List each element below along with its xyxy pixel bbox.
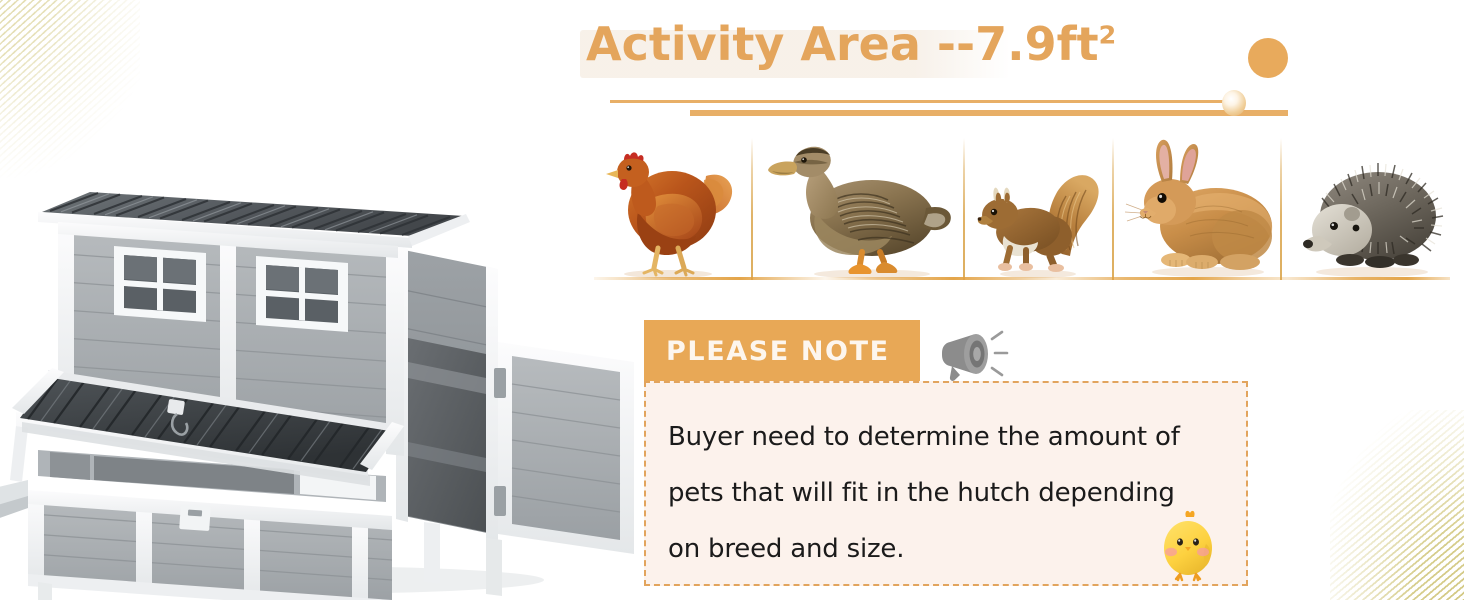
please-note-tab: PLEASE NOTE [644,320,920,383]
animal-strip [594,132,1450,284]
hedgehog-photo-icon [1294,132,1450,280]
chick-icon [1156,508,1220,582]
coop-side-door [494,342,634,554]
animal-strip-baseline [594,277,1450,280]
animal-cell-hedgehog [1294,132,1450,280]
title-rule-lower [690,110,1288,116]
chicken-coop-photo-icon [0,150,654,600]
animal-cell-squirrel [976,132,1108,280]
animal-divider-4 [1280,138,1282,280]
coop-window-right [256,256,348,332]
coop-window-left [114,246,206,322]
title-rule-upper [610,100,1236,103]
animal-cell-rabbit [1124,132,1284,280]
coop-latch-lower [179,505,211,531]
banner-canvas: Activity Area --7.9ft2 [0,0,1464,600]
duck-photo-icon [764,132,964,280]
page-title-main: Activity Area --7.9ft [586,17,1099,71]
animal-cell-duck [764,132,964,280]
title-block: Activity Area --7.9ft2 [578,14,1308,114]
animal-divider-3 [1112,138,1114,280]
megaphone-icon [932,323,1010,385]
please-note-block: PLEASE NOTE Buyer need to determine the … [644,320,1252,592]
page-title-superscript: 2 [1099,21,1117,50]
squirrel-photo-icon [976,132,1108,280]
corner-hatch-bottom-right-icon [1330,410,1464,600]
please-note-body: Buyer need to determine the amount of pe… [644,381,1248,586]
animal-divider-2 [963,138,965,280]
please-note-text: Buyer need to determine the amount of pe… [668,409,1213,577]
large-orange-circle-icon [1248,38,1288,78]
rabbit-photo-icon [1124,132,1284,280]
product-image [0,150,654,600]
small-gradient-sphere-icon [1222,90,1246,116]
please-note-label: PLEASE NOTE [666,336,890,367]
animal-divider-1 [751,138,753,280]
page-title: Activity Area --7.9ft2 [586,16,1116,74]
